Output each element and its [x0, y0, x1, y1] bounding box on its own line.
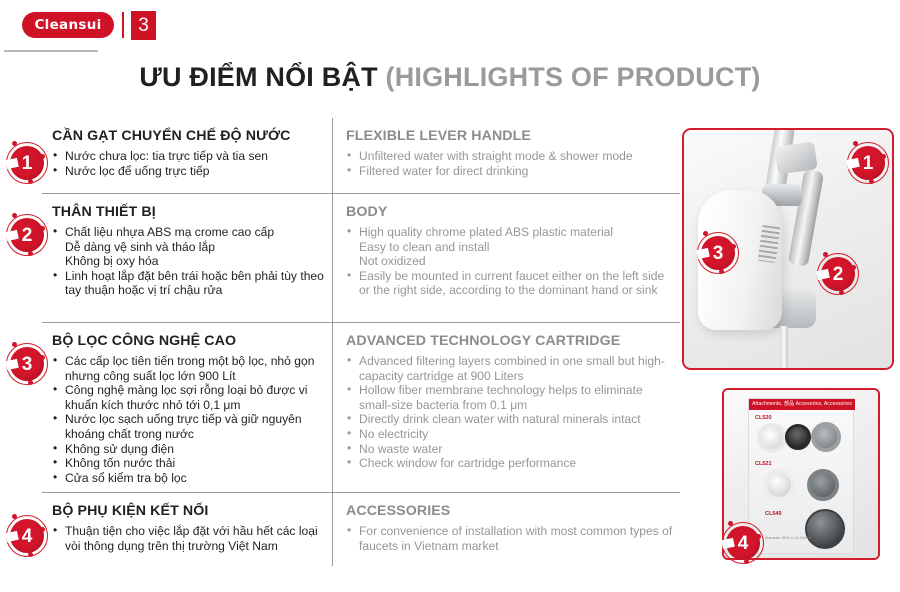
- list-item: No waste water: [346, 442, 678, 457]
- badge-dot-icon: [28, 179, 33, 184]
- page-title-en: (HIGHLIGHTS OF PRODUCT): [386, 62, 761, 92]
- faucet-stem: [780, 326, 788, 370]
- list-item: High quality chrome plated ABS plastic m…: [346, 225, 678, 240]
- list-item: No electricity: [346, 427, 678, 442]
- list-item: Nước lọc để uống trực tiếp: [52, 164, 324, 179]
- badge-number: 3: [713, 244, 724, 263]
- cleansui-logo: Cleansui: [22, 12, 114, 38]
- highlights-table: 1 CẦN GẠT CHUYỂN CHẾ ĐỘ NƯỚC Nước chưa l…: [0, 118, 686, 566]
- photo-callout-3: 3: [697, 232, 739, 274]
- section-2-en: BODY High quality chrome plated ABS plas…: [332, 204, 686, 298]
- list-item: Nước chưa lọc: tia trực tiếp và tia sen: [52, 149, 324, 164]
- page-title-vi: ƯU ĐIỂM NỔI BẬT: [139, 62, 385, 92]
- page-number: 3: [138, 15, 149, 37]
- badge-dot-icon: [756, 534, 761, 539]
- list-subitem: Dễ dàng vệ sinh và tháo lắp: [52, 240, 324, 255]
- accessory-ring: [763, 469, 795, 501]
- list-subitem: Not oxidized: [346, 254, 678, 269]
- badge-dot-icon: [851, 265, 856, 270]
- badge-dot-icon: [744, 559, 749, 564]
- accessory-ring: [811, 422, 841, 452]
- logo-separator: [122, 12, 124, 38]
- section-4-en-heading: ACCESSORIES: [346, 503, 678, 519]
- badge-dot-icon: [853, 141, 858, 146]
- accessory-ring: [805, 509, 845, 549]
- section-4-vi-heading: BỘ PHỤ KIỆN KẾT NỐI: [52, 503, 324, 519]
- list-item: Unfiltered water with straight mode & sh…: [346, 149, 678, 164]
- section-3-en-bullets: Advanced filtering layers combined in on…: [346, 354, 678, 471]
- accessory-code: CL521: [755, 461, 772, 467]
- list-subitem: Không bị oxy hóa: [52, 254, 324, 269]
- badge-dot-icon: [728, 521, 733, 526]
- badge-dot-icon: [881, 154, 886, 159]
- section-1-vi-heading: CẦN GẠT CHUYỂN CHẾ ĐỘ NƯỚC: [52, 128, 324, 144]
- badge-number: 2: [833, 265, 844, 284]
- section-1-en-heading: FLEXIBLE LEVER HANDLE: [346, 128, 678, 144]
- section-4-en: ACCESSORIES For convenience of installat…: [332, 503, 686, 553]
- list-item: Các cấp lọc tiên tiến trong một bộ lọc, …: [52, 354, 324, 383]
- page-number-box: 3: [131, 11, 156, 40]
- list-item: Hollow fiber membrane technology helps t…: [346, 383, 678, 412]
- accessory-code: CL540: [765, 511, 782, 517]
- section-2-en-heading: BODY: [346, 204, 678, 220]
- photo-callout-4: 4: [722, 522, 764, 564]
- section-2-vi: THÂN THIẾT BỊ Chất liệu nhựa ABS mạ crom…: [0, 204, 332, 298]
- list-item: Không sử dụng điện: [52, 442, 324, 457]
- list-item: Nước lọc sạch uống trực tiếp và giữ nguy…: [52, 412, 324, 441]
- list-item: Chất liệu nhựa ABS mạ crome cao cấp: [52, 225, 324, 240]
- badge-dot-icon: [731, 244, 736, 249]
- section-1-en: FLEXIBLE LEVER HANDLE Unfiltered water w…: [332, 128, 686, 178]
- accessory-code: CL520: [755, 415, 772, 421]
- list-item: Thuận tiện cho việc lắp đặt với hầu hết …: [52, 524, 324, 553]
- section-1-vi: CẦN GẠT CHUYỂN CHẾ ĐỘ NƯỚC Nước chưa lọc…: [0, 128, 332, 178]
- section-3-en: ADVANCED TECHNOLOGY CARTRIDGE Advanced f…: [332, 333, 686, 471]
- section-2-vi-bullets: Chất liệu nhựa ABS mạ crome cao cấp Dễ d…: [52, 225, 324, 298]
- section-3-vi: BỘ LỌC CÔNG NGHỆ CAO Các cấp lọc tiên ti…: [0, 333, 332, 485]
- row-divider-1: [42, 193, 680, 194]
- list-subitem: Easy to clean and install: [346, 240, 678, 255]
- badge-dot-icon: [719, 269, 724, 274]
- section-4-vi: BỘ PHỤ KIỆN KẾT NỐI Thuận tiện cho việc …: [0, 503, 332, 553]
- badge-number: 1: [863, 154, 874, 173]
- slide-page: Cleansui 3 ƯU ĐIỂM NỔI BẬT (HIGHLIGHTS O…: [0, 0, 900, 592]
- photo-callout-1: 1: [847, 142, 889, 184]
- badge-number: 4: [738, 534, 749, 553]
- accessory-ring: [807, 469, 839, 501]
- list-item: Easily be mounted in current faucet eith…: [346, 269, 678, 298]
- row-divider-3: [42, 492, 680, 493]
- accessory-card-header: Attachments, 部品 Accesorios, Accessoires: [749, 399, 855, 410]
- brand-header: Cleansui 3: [0, 0, 900, 52]
- section-1-vi-bullets: Nước chưa lọc: tia trực tiếp và tia sen …: [52, 149, 324, 178]
- accessory-ring: [785, 424, 811, 450]
- list-item: Advanced filtering layers combined in on…: [346, 354, 678, 383]
- section-4-en-bullets: For convenience of installation with mos…: [346, 524, 678, 553]
- list-item: For convenience of installation with mos…: [346, 524, 678, 553]
- list-item: Linh hoạt lắp đặt bên trái hoặc bên phải…: [52, 269, 324, 298]
- section-3-en-heading: ADVANCED TECHNOLOGY CARTRIDGE: [346, 333, 678, 349]
- list-item: Filtered water for direct drinking: [346, 164, 678, 179]
- section-3-vi-heading: BỘ LỌC CÔNG NGHỆ CAO: [52, 333, 324, 349]
- page-title: ƯU ĐIỂM NỔI BẬT (HIGHLIGHTS OF PRODUCT): [0, 62, 900, 93]
- section-3-vi-bullets: Các cấp lọc tiên tiến trong một bộ lọc, …: [52, 354, 324, 485]
- list-item: Cửa sổ kiểm tra bộ lọc: [52, 471, 324, 486]
- section-4-vi-bullets: Thuận tiện cho việc lắp đặt với hầu hết …: [52, 524, 324, 553]
- badge-dot-icon: [703, 231, 708, 236]
- accessory-ring: [757, 423, 787, 453]
- accessory-note: diameter Ø19 ø 13-24mm: [765, 535, 811, 540]
- list-item: Directly drink clean water with natural …: [346, 412, 678, 427]
- list-item: Check window for cartridge performance: [346, 456, 678, 471]
- badge-dot-icon: [869, 179, 874, 184]
- badge-dot-icon: [839, 290, 844, 295]
- section-2-en-bullets: High quality chrome plated ABS plastic m…: [346, 225, 678, 298]
- badge-dot-icon: [823, 252, 828, 257]
- section-1-en-bullets: Unfiltered water with straight mode & sh…: [346, 149, 678, 178]
- logo-text: Cleansui: [34, 17, 101, 33]
- header-underline: [4, 50, 98, 52]
- list-item: Không tốn nước thải: [52, 456, 324, 471]
- row-divider-2: [42, 322, 680, 323]
- photo-callout-2: 2: [817, 253, 859, 295]
- list-item: Công nghệ màng lọc sợi rỗng loại bỏ được…: [52, 383, 324, 412]
- section-2-vi-heading: THÂN THIẾT BỊ: [52, 204, 324, 220]
